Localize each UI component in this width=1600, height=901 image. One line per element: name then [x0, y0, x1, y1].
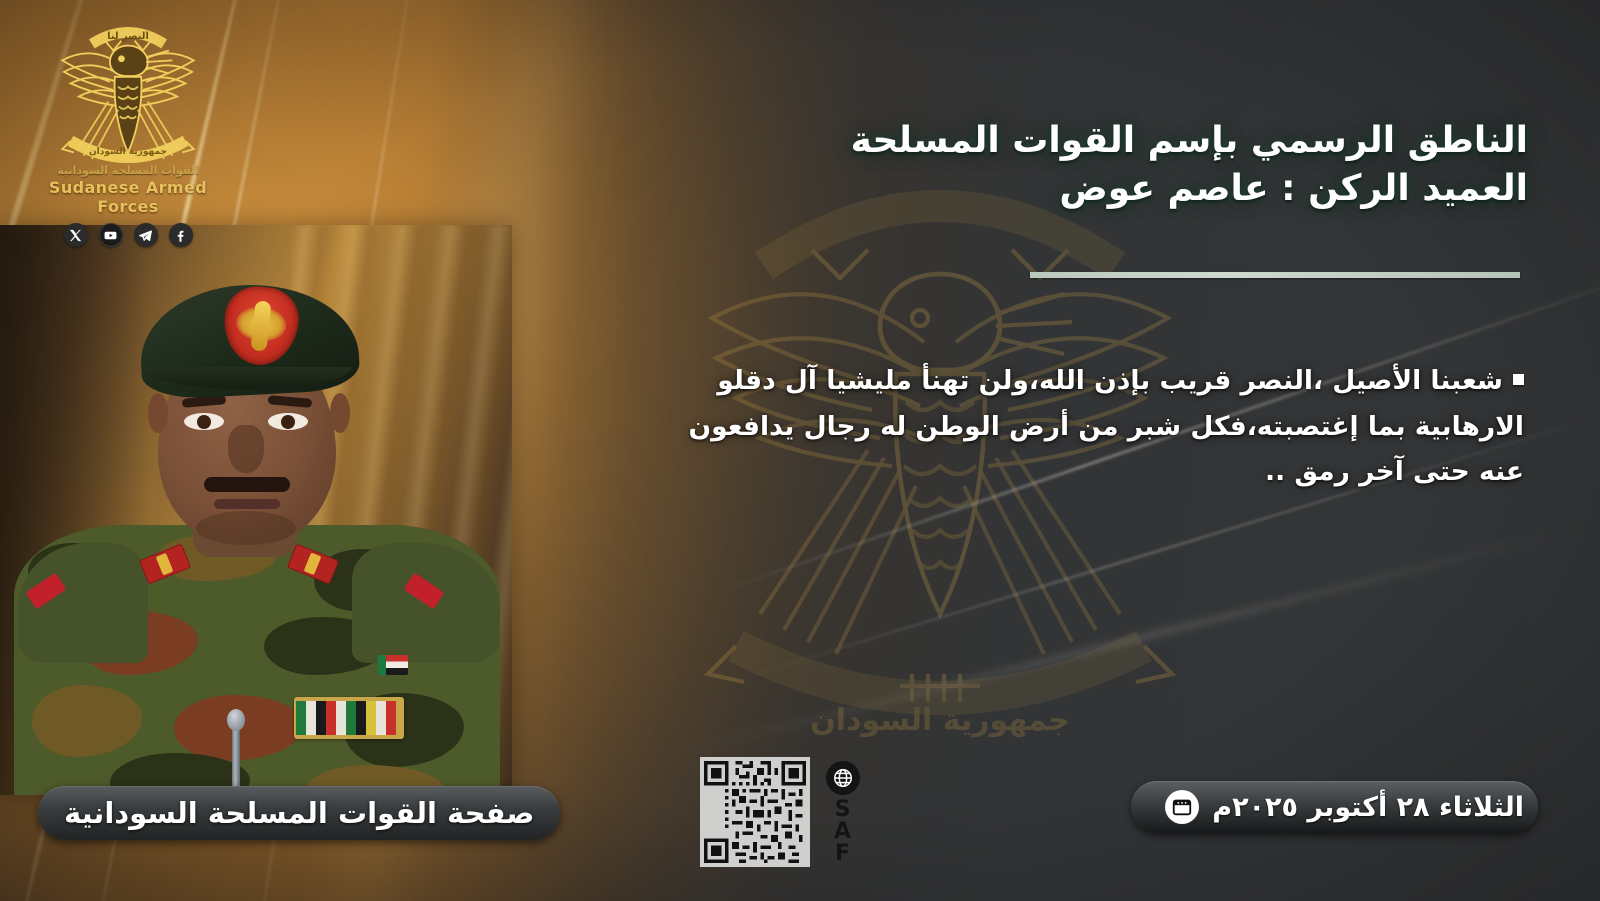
statement-card: جمهورية السودان [0, 0, 1600, 901]
date-badge: الثلاثاء ٢٨ أكتوبر ٢٠٢٥م [1131, 781, 1538, 833]
saf-web-mark: S A F [826, 761, 860, 865]
globe-icon [826, 761, 860, 795]
saf-letter-a: A [834, 821, 852, 843]
social-links-row [18, 223, 238, 247]
bullet-square-icon [1513, 374, 1524, 385]
microphone-icon [232, 725, 240, 795]
page-title-line-2: العميد الركن : عاصم عوض [528, 166, 1528, 212]
svg-text:النصر لنا: النصر لنا [107, 31, 149, 42]
ribbon-bar [294, 697, 404, 739]
logo-name-english: Sudanese Armed Forces [18, 178, 238, 216]
saf-letters: S A F [834, 799, 852, 865]
statement-body: شعبنا الأصيل ،النصر قريب بإذن الله،ولن ت… [524, 358, 1524, 495]
saf-letter-s: S [834, 799, 852, 821]
saf-logo-block: جمهورية السودان النصر لنا القوات المسلحة… [18, 16, 238, 247]
statement-line-1-text: شعبنا الأصيل ،النصر قريب بإذن الله،ولن ت… [717, 365, 1503, 396]
page-caption-badge: صفحة القوات المسلحة السودانية [38, 786, 560, 840]
page-caption-text: صفحة القوات المسلحة السودانية [64, 796, 534, 830]
saf-letter-f: F [834, 843, 852, 865]
qr-code[interactable] [700, 757, 810, 867]
header-title-block: الناطق الرسمي بإسم القوات المسلحة العميد… [528, 118, 1528, 212]
saf-emblem-icon: جمهورية السودان النصر لنا [45, 16, 211, 168]
sudan-flag-patch-icon [378, 655, 408, 675]
page-title-line-1: الناطق الرسمي بإسم القوات المسلحة [528, 118, 1528, 164]
title-divider [1030, 272, 1520, 278]
statement-line-2: الارهابية بما إغتصبته،فكل شبر من أرض الو… [524, 404, 1524, 450]
svg-text:جمهورية السودان: جمهورية السودان [89, 147, 167, 157]
speaker-photo: عاصم عوض عبدالوهاب ASSIM AWAD ABDAWAHAB [0, 225, 512, 795]
youtube-icon[interactable] [99, 223, 123, 247]
qr-block: S A F [700, 757, 860, 867]
statement-line-1: شعبنا الأصيل ،النصر قريب بإذن الله،ولن ت… [524, 358, 1524, 404]
date-badge-text: الثلاثاء ٢٨ أكتوبر ٢٠٢٥م [1212, 792, 1524, 823]
statement-line-3: عنه حتى آخر رمق .. [524, 449, 1524, 495]
calendar-icon [1165, 790, 1199, 824]
facebook-icon[interactable] [169, 223, 193, 247]
logo-name-arabic: القوات المسلحة السودانية [18, 164, 238, 177]
telegram-icon[interactable] [134, 223, 158, 247]
x-twitter-icon[interactable] [64, 223, 88, 247]
